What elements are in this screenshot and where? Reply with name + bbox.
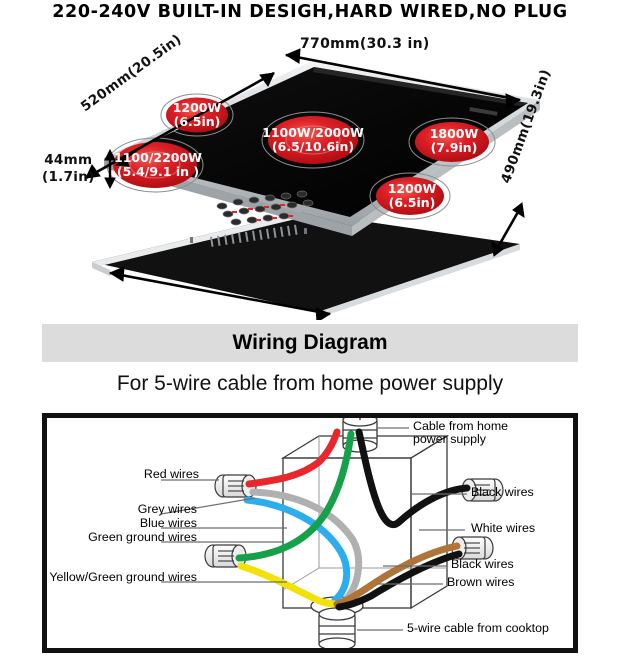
product-illustration: 1200W (6.5in) 1100/2200W (5.4/9.1 in ) 1… [0,30,620,320]
label-grey-wires: Grey wires [77,503,197,517]
label-black-wires-bottom: Black wires [451,558,514,572]
label-brown-wires: Brown wires [447,576,514,590]
label-black-wires-top: Black wires [471,486,534,500]
wiring-diagram-subtitle: For 5-wire cable from home power supply [0,372,620,396]
wiring-diagram-banner: Wiring Diagram [42,324,578,362]
page-root: 220-240V BUILT-IN DESIGH,HARD WIRED,NO P… [0,0,620,664]
wiring-diagram-title: Wiring Diagram [42,324,578,362]
burner-label-center-size: (6.5/10.6in) [272,139,354,154]
burner-label-front-left-power: 1100/2200W [114,150,202,165]
burner-label-rear-left-size: (6.5in) [174,114,221,129]
dimension-height-mm: 44mm [42,152,95,169]
label-yellow-green-ground-wires: Yellow/Green ground wires [47,571,197,585]
burner-label-front-right-power: 1200W [388,181,437,196]
dimension-height: 44mm (1.7in) [42,152,95,186]
label-cooktop-cable: 5-wire cable from cooktop [407,622,549,636]
dimension-height-in: (1.7in) [42,169,95,186]
label-green-ground-wires: Green ground wires [57,531,197,545]
burner-label-center-power: 1100W/2000W [262,125,364,140]
burner-label-rear-right-size: (7.9in) [431,140,478,155]
burner-label-rear-right-power: 1800W [430,126,479,141]
dimension-width-top: 770mm(30.3 in) [300,36,430,52]
wiring-diagram-frame: Red wires Grey wires Blue wires Green gr… [42,413,578,653]
burner-label-rear-left-power: 1200W [173,100,222,115]
label-blue-wires: Blue wires [77,517,197,531]
page-title: 220-240V BUILT-IN DESIGH,HARD WIRED,NO P… [0,2,620,22]
label-red-wires: Red wires [89,468,199,482]
label-cable-from-home-line2: power supply [413,433,486,447]
label-white-wires: White wires [471,522,535,536]
counter-cutout-slab [92,212,520,318]
wire-yellow [241,566,335,604]
burner-label-front-left-size: (5.4/9.1 in ) [117,164,199,179]
burner-label-front-right-size: (6.5in) [389,195,436,210]
